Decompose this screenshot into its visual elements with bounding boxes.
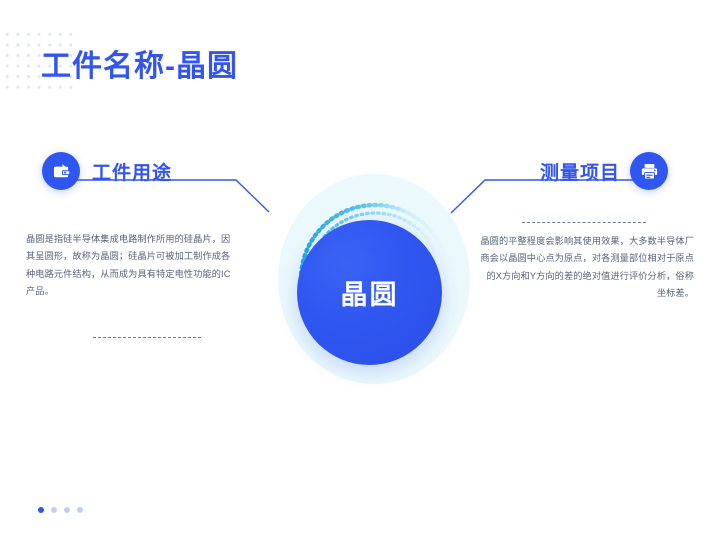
pagination-dot-3[interactable] xyxy=(64,507,70,513)
divider-dashes-right xyxy=(522,222,646,223)
pagination-dot-4[interactable] xyxy=(77,507,83,513)
panel-left-heading: 工件用途 xyxy=(92,158,172,185)
slide-canvas: 工件名称-晶圆 xyxy=(0,0,720,540)
panel-right-body: 晶圆的平整程度会影响其使用效果，大多数半导体厂商会以晶圆中心点为原点，对各测量部… xyxy=(478,233,694,303)
panel-left-body: 晶圆是指硅半导体集成电路制作所用的硅晶片，因其呈圆形，故称为晶圆；硅晶片可被加工… xyxy=(26,231,231,301)
center-label: 晶圆 xyxy=(297,220,442,365)
pagination-dot-1[interactable] xyxy=(38,507,44,513)
panel-right-header: 测量项目 xyxy=(540,152,668,190)
divider-dashes-left xyxy=(93,337,201,338)
panel-left-header: 工件用途 xyxy=(42,152,172,190)
panel-right-heading: 测量项目 xyxy=(540,158,620,185)
pagination-dots[interactable] xyxy=(38,507,83,513)
center-graphic: 晶圆 xyxy=(258,172,470,384)
page-title: 工件名称-晶圆 xyxy=(41,47,238,87)
pagination-dot-2[interactable] xyxy=(51,507,57,513)
printer-icon xyxy=(630,152,668,190)
wallet-icon xyxy=(42,152,80,190)
